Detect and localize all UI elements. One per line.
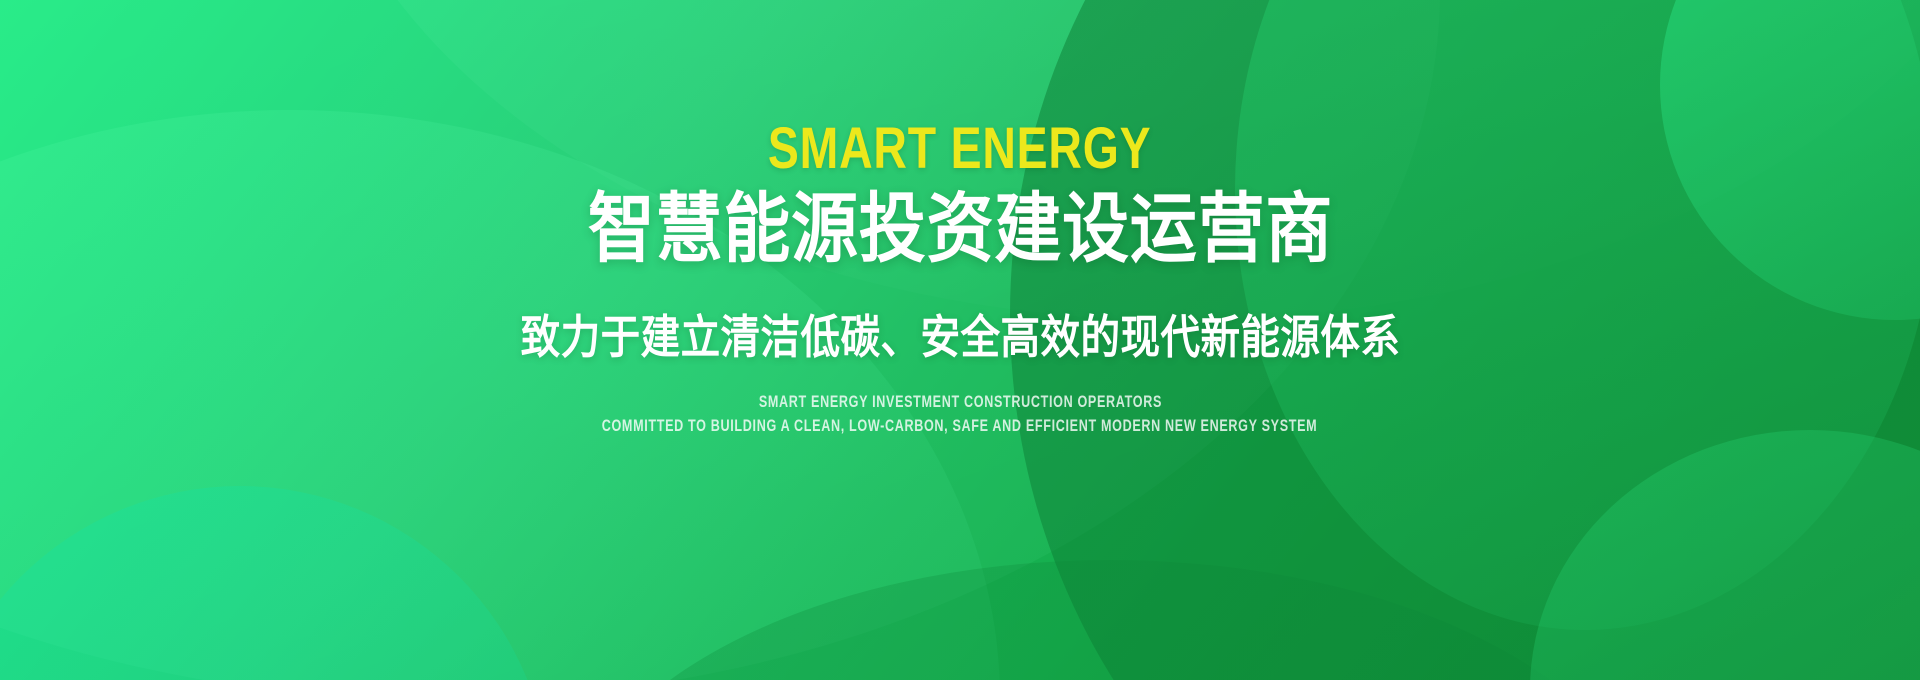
banner-tagline-english-secondary: COMMITTED TO BUILDING A CLEAN, LOW-CARBO… bbox=[602, 414, 1318, 437]
banner-title-english: SMART ENERGY bbox=[768, 118, 1151, 180]
banner-tagline-english-primary: SMART ENERGY INVESTMENT CONSTRUCTION OPE… bbox=[758, 390, 1161, 413]
banner-title-chinese: 智慧能源投资建设运营商 bbox=[587, 188, 1332, 272]
hero-banner: SMART ENERGY 智慧能源投资建设运营商 致力于建立清洁低碳、安全高效的… bbox=[0, 0, 1920, 680]
banner-content: SMART ENERGY 智慧能源投资建设运营商 致力于建立清洁低碳、安全高效的… bbox=[0, 0, 1920, 680]
banner-subtitle-chinese: 致力于建立清洁低碳、安全高效的现代新能源体系 bbox=[520, 310, 1400, 364]
